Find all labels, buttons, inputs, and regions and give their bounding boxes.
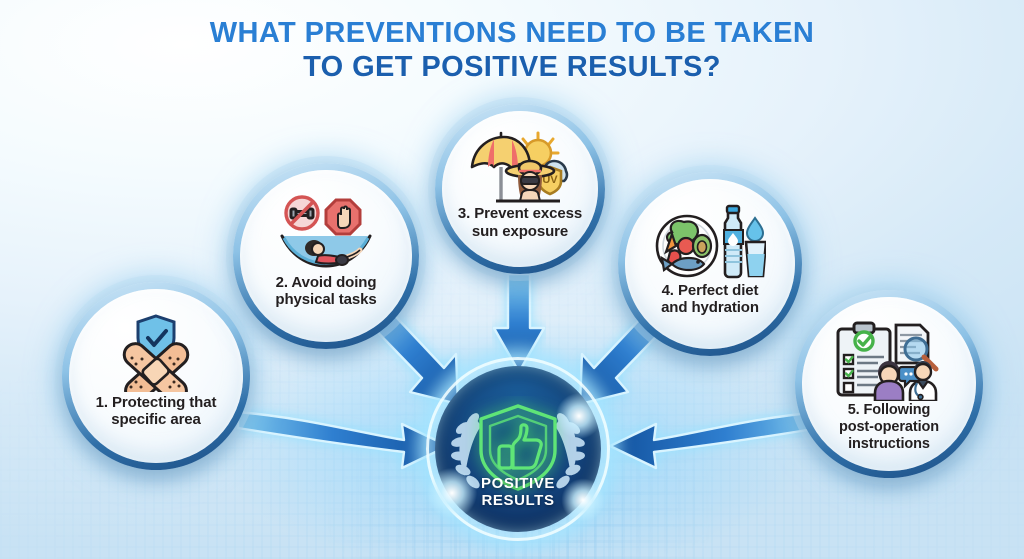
node-3-prevent-sun-exposure[interactable]: UV 3 xyxy=(435,104,605,274)
node-5-label-line-1: 5. Following xyxy=(848,402,931,418)
node-5-label-line-2: post-operation xyxy=(839,419,939,435)
node-1-label-line-1: 1. Protecting that xyxy=(96,394,217,411)
title-line-2: TO GET POSITIVE RESULTS? xyxy=(0,50,1024,84)
node-4-face: 4. Perfect diet and hydration xyxy=(625,179,795,349)
clipboard-doctor-patient-icon xyxy=(834,325,944,398)
node-4-label: 4. Perfect diet and hydration xyxy=(637,282,783,317)
page-title: WHAT PREVENTIONS NEED TO BE TAKEN TO GET… xyxy=(0,16,1024,84)
hammock-no-exercise-icon xyxy=(274,198,378,270)
node-5-post-operation-instructions[interactable]: 5. Following post-operation instructions xyxy=(795,290,983,478)
node-3-face: UV 3 xyxy=(442,111,598,267)
hub-positive-results[interactable]: POSITIVE RESULTS xyxy=(435,366,601,532)
node-1-label-line-2: specific area xyxy=(111,411,201,428)
hub-label-line-2: RESULTS xyxy=(481,492,554,509)
node-1-protecting-area[interactable]: 1. Protecting that specific area xyxy=(62,282,250,470)
node-3-label-line-1: 3. Prevent excess xyxy=(458,205,582,222)
node-2-label-line-1: 2. Avoid doing xyxy=(276,274,377,291)
node-4-label-line-1: 4. Perfect diet xyxy=(662,282,759,299)
node-1-label: 1. Protecting that specific area xyxy=(81,394,231,429)
hub-label-line-1: POSITIVE xyxy=(481,475,555,492)
node-3-label-line-2: sun exposure xyxy=(472,223,568,240)
node-3-label: 3. Prevent excess sun exposure xyxy=(453,205,587,240)
bandage-shield-icon xyxy=(108,317,204,390)
sun-umbrella-uv-icon: UV xyxy=(468,136,572,202)
node-2-avoid-physical-tasks[interactable]: 2. Avoid doing physical tasks xyxy=(233,163,419,349)
node-5-face: 5. Following post-operation instructions xyxy=(802,297,976,471)
node-1-face: 1. Protecting that specific area xyxy=(69,289,243,463)
hub-label: POSITIVE RESULTS xyxy=(435,476,601,510)
healthy-food-water-icon xyxy=(654,206,766,277)
node-4-diet-hydration[interactable]: 4. Perfect diet and hydration xyxy=(618,172,802,356)
node-2-face: 2. Avoid doing physical tasks xyxy=(240,170,412,342)
node-5-label-line-3: instructions xyxy=(848,436,930,452)
node-2-label: 2. Avoid doing physical tasks xyxy=(252,274,400,309)
infographic-canvas: WHAT PREVENTIONS NEED TO BE TAKEN TO GET… xyxy=(0,0,1024,559)
title-line-1: WHAT PREVENTIONS NEED TO BE TAKEN xyxy=(0,16,1024,50)
hub-ring-glow xyxy=(426,357,610,541)
node-2-label-line-2: physical tasks xyxy=(275,291,376,308)
node-5-label: 5. Following post-operation instructions xyxy=(814,402,964,453)
node-4-label-line-2: and hydration xyxy=(661,299,759,316)
